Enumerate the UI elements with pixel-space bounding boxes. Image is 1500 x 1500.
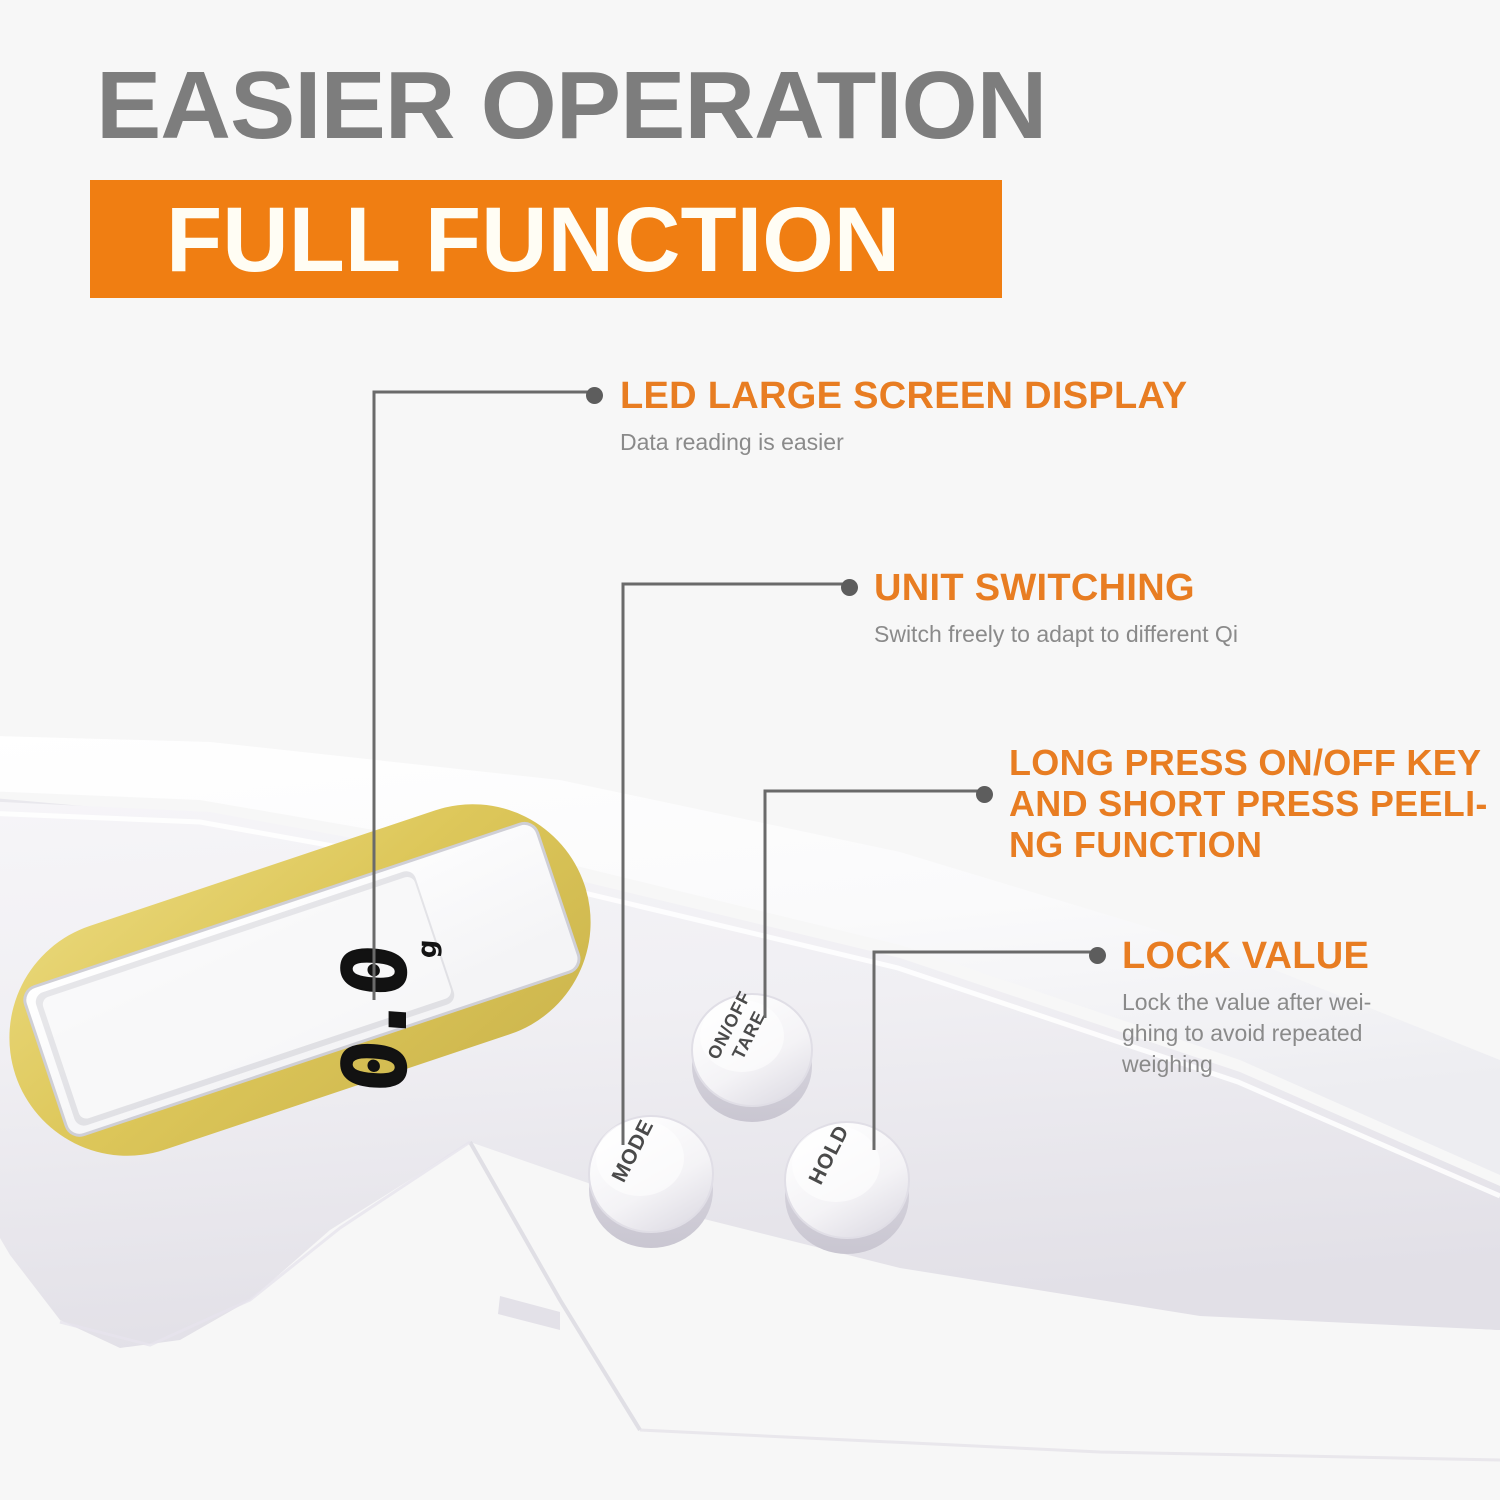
callout-unit-switching: UNIT SWITCHING Switch freely to adapt to… xyxy=(874,567,1238,650)
leader-line-unit xyxy=(623,584,843,1145)
leader-dot-hold xyxy=(1089,947,1106,964)
callout-heading: LOCK VALUE xyxy=(1122,935,1371,977)
callout-body: Data reading is easier xyxy=(620,427,1187,458)
callout-heading: LED LARGE SCREEN DISPLAY xyxy=(620,375,1187,417)
callout-body: Lock the value after wei- ghing to avoid… xyxy=(1122,987,1371,1080)
leader-dot-onoff xyxy=(976,786,993,803)
leader-line-display xyxy=(374,392,588,1000)
callout-body: Switch freely to adapt to different Qi xyxy=(874,619,1238,650)
callout-heading: UNIT SWITCHING xyxy=(874,567,1238,609)
leader-line-onoff xyxy=(765,791,978,1018)
infographic-canvas: EASIER OPERATION FULL FUNCTION xyxy=(0,0,1500,1500)
callout-on-off-key: LONG PRESS ON/OFF KEY AND SHORT PRESS PE… xyxy=(1009,742,1488,875)
callout-lock-value: LOCK VALUE Lock the value after wei- ghi… xyxy=(1122,935,1371,1080)
callout-heading: LONG PRESS ON/OFF KEY AND SHORT PRESS PE… xyxy=(1009,742,1488,865)
leader-dot-unit xyxy=(841,579,858,596)
callout-led-large-screen-display: LED LARGE SCREEN DISPLAY Data reading is… xyxy=(620,375,1187,458)
leader-line-hold xyxy=(874,952,1091,1150)
leader-dot-display xyxy=(586,387,603,404)
